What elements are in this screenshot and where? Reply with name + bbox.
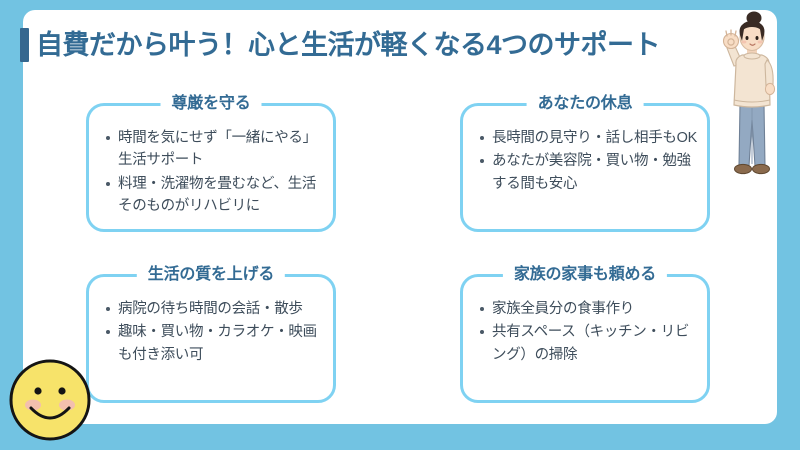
list-item: 長時間の見守り・話し相手もOK [492, 127, 699, 149]
list-item: 時間を気にせず「一緒にやる」生活サポート [118, 127, 325, 172]
list-item: 家族全員分の食事作り [492, 298, 699, 320]
smiley-face-icon [8, 358, 92, 442]
card-heading-2: あなたの休息 [527, 91, 644, 117]
support-card-1: 尊厳を守る 時間を気にせず「一緒にやる」生活サポート 料理・洗濯物を畳むなど、生… [86, 103, 336, 232]
card-bullet-list-4: 家族全員分の食事作り 共有スペース（キッチン・リビング）の掃除 [474, 298, 699, 367]
list-item: 趣味・買い物・カラオケ・映画も付き添い可 [118, 321, 325, 366]
woman-ok-gesture-illustration [712, 8, 792, 188]
page-title: 自費だから叶う！心と生活が軽くなる4つのサポート [20, 22, 660, 68]
support-card-3: 生活の質を上げる 病院の待ち時間の会話・散歩 趣味・買い物・カラオケ・映画も付き… [86, 274, 336, 403]
support-card-2: あなたの休息 長時間の見守り・話し相手もOK あなたが美容院・買い物・勉強する間… [460, 103, 710, 232]
card-heading-4: 家族の家事も頼める [503, 262, 667, 288]
list-item: あなたが美容院・買い物・勉強する間も安心 [492, 150, 699, 195]
card-heading-3: 生活の質を上げる [137, 262, 285, 288]
title-accent-bar [20, 28, 29, 62]
card-bullet-list-3: 病院の待ち時間の会話・散歩 趣味・買い物・カラオケ・映画も付き添い可 [100, 298, 325, 367]
support-card-4: 家族の家事も頼める 家族全員分の食事作り 共有スペース（キッチン・リビング）の掃… [460, 274, 710, 403]
list-item: 共有スペース（キッチン・リビング）の掃除 [492, 321, 699, 366]
slide-root: 自費だから叶う！心と生活が軽くなる4つのサポート 尊厳を守る 時間を気にせず「一… [0, 0, 800, 450]
title-text: 自費だから叶う！心と生活が軽くなる4つのサポート [36, 32, 660, 59]
list-item: 料理・洗濯物を畳むなど、生活そのものがリハビリに [118, 173, 325, 218]
card-bullet-list-2: 長時間の見守り・話し相手もOK あなたが美容院・買い物・勉強する間も安心 [474, 127, 699, 196]
card-bullet-list-1: 時間を気にせず「一緒にやる」生活サポート 料理・洗濯物を畳むなど、生活そのものが… [100, 127, 325, 219]
card-heading-1: 尊厳を守る [160, 91, 261, 117]
list-item: 病院の待ち時間の会話・散歩 [118, 298, 325, 320]
